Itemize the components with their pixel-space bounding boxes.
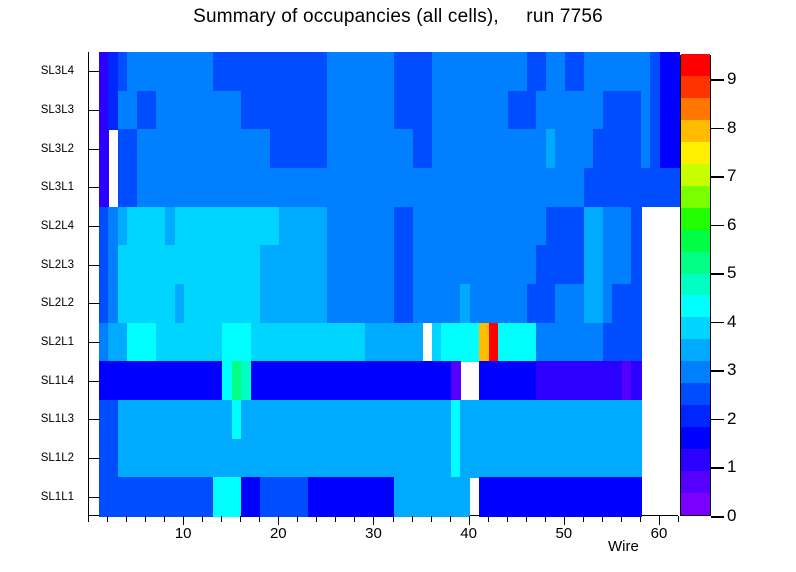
heatmap-cell — [413, 323, 423, 362]
colorbar-tick — [711, 370, 724, 372]
colorbar-tick — [711, 419, 724, 421]
colorbar-band — [681, 207, 710, 229]
colorbar-tick-label: 9 — [727, 69, 736, 89]
heatmap-cell — [631, 323, 641, 362]
colorbar-band — [681, 471, 710, 493]
x-axis-minor-tick — [450, 516, 451, 522]
y-axis-labels: SL3L4SL3L3SL3L2SL3L1SL2L4SL2L3SL2L2SL2L1… — [0, 52, 84, 516]
colorbar-band — [681, 163, 710, 185]
colorbar-tick-label: 8 — [727, 118, 736, 138]
colorbar-tick — [711, 176, 724, 178]
heatmap-cell — [669, 91, 679, 130]
x-axis-minor-tick — [678, 516, 679, 522]
colorbar-band — [681, 54, 710, 76]
colorbar-band — [681, 339, 710, 361]
x-axis-tick-label: 60 — [651, 525, 668, 542]
x-axis-tick-label: 30 — [365, 525, 382, 542]
colorbar-band — [681, 427, 710, 449]
heatmap-cell — [631, 245, 641, 284]
colorbar-band — [681, 405, 710, 427]
x-axis-minor-tick — [412, 516, 413, 522]
x-axis-minor-tick — [488, 516, 489, 522]
y-axis-tick-label: SL2L2 — [41, 297, 74, 309]
y-axis-tick — [88, 187, 100, 188]
x-axis-minor-tick — [221, 516, 222, 522]
y-axis-tick-label: SL1L4 — [41, 375, 74, 387]
y-axis-tick-label: SL3L2 — [41, 143, 74, 155]
x-axis-major-tick — [469, 516, 470, 525]
colorbar-band — [681, 141, 710, 163]
colorbar-tick — [711, 467, 724, 469]
heatmap-cell — [99, 129, 109, 168]
y-axis-tick-label: SL3L3 — [41, 104, 74, 116]
colorbar-tick — [711, 225, 724, 227]
y-axis-tick-label: SL2L4 — [41, 220, 74, 232]
x-axis-minor-tick — [164, 516, 165, 522]
heatmap-cell — [631, 361, 641, 400]
x-axis-minor-tick — [393, 516, 394, 522]
y-axis-tick-label: SL1L3 — [41, 413, 74, 425]
x-axis-minor-tick — [602, 516, 603, 522]
y-axis-tick-label: SL2L1 — [41, 336, 74, 348]
x-axis-minor-tick — [107, 516, 108, 522]
colorbar-band — [681, 295, 710, 317]
colorbar-band — [681, 119, 710, 141]
y-axis-tick — [88, 149, 100, 150]
x-axis-minor-tick — [526, 516, 527, 522]
heatmap-plot-area[interactable] — [88, 52, 678, 516]
colorbar-band — [681, 185, 710, 207]
y-axis-tick — [88, 458, 100, 459]
x-axis-minor-tick — [88, 516, 89, 522]
colorbar-band — [681, 449, 710, 471]
colorbar-tick-label: 4 — [727, 312, 736, 332]
heatmap-cell — [669, 52, 679, 91]
colorbar-tick-label: 0 — [727, 506, 736, 526]
y-axis-tick-label: SL3L1 — [41, 181, 74, 193]
heatmap-cell — [631, 477, 641, 516]
y-axis-tick-label: SL3L4 — [41, 65, 74, 77]
x-axis-minor-tick — [297, 516, 298, 522]
colorbar-tick-label: 6 — [727, 215, 736, 235]
colorbar-tick-label: 5 — [727, 263, 736, 283]
x-axis-minor-tick — [431, 516, 432, 522]
x-axis-minor-tick — [621, 516, 622, 522]
x-axis-minor-tick — [240, 516, 241, 522]
colorbar[interactable] — [680, 55, 711, 516]
heatmap-cell — [631, 207, 641, 246]
x-axis-major-tick — [564, 516, 565, 525]
x-axis-major-tick — [373, 516, 374, 525]
heatmap-cell — [631, 284, 641, 323]
colorbar-tick-label: 7 — [727, 166, 736, 186]
colorbar-band — [681, 273, 710, 295]
x-axis-minor-tick — [354, 516, 355, 522]
heatmap-cell — [669, 129, 679, 168]
x-axis-minor-tick — [259, 516, 260, 522]
x-axis-major-tick — [659, 516, 660, 525]
colorbar-tick — [711, 516, 724, 518]
colorbar-band — [681, 493, 710, 515]
y-axis-tick — [88, 303, 100, 304]
heatmap-cell — [669, 168, 679, 207]
colorbar-tick — [711, 128, 724, 130]
colorbar-tick-label: 1 — [727, 457, 736, 477]
y-axis-tick — [88, 419, 100, 420]
root-canvas: Summary of occupancies (all cells), run … — [0, 0, 796, 572]
y-axis-tick — [88, 342, 100, 343]
x-axis-minor-tick — [335, 516, 336, 522]
x-axis-major-tick — [183, 516, 184, 525]
colorbar-band — [681, 251, 710, 273]
heatmap-cell — [631, 400, 641, 439]
x-axis-title: Wire — [608, 538, 639, 555]
colorbar-tick-label: 3 — [727, 360, 736, 380]
x-axis-minor-tick — [545, 516, 546, 522]
x-axis-minor-tick — [202, 516, 203, 522]
y-axis-tick — [88, 226, 100, 227]
x-axis-tick-label: 20 — [270, 525, 287, 542]
y-axis-tick — [88, 71, 100, 72]
x-axis-minor-tick — [507, 516, 508, 522]
heatmap-cell — [451, 361, 461, 400]
colorbar-band — [681, 97, 710, 119]
heatmap-cell — [460, 477, 470, 516]
x-axis-tick-label: 40 — [460, 525, 477, 542]
x-axis-minor-tick — [145, 516, 146, 522]
x-axis: 102030405060 — [88, 516, 678, 556]
colorbar-tick — [711, 273, 724, 275]
page-title: Summary of occupancies (all cells), run … — [0, 6, 796, 28]
y-axis-tick — [88, 110, 100, 111]
x-axis-minor-tick — [640, 516, 641, 522]
heatmap-cell — [631, 439, 641, 478]
x-axis-tick-label: 50 — [555, 525, 572, 542]
y-axis-tick — [88, 381, 100, 382]
colorbar-band — [681, 383, 710, 405]
heatmap-cell — [99, 168, 109, 207]
y-axis-tick-label: SL2L3 — [41, 259, 74, 271]
heatmap-cells — [89, 52, 678, 515]
y-axis-tick-label: SL1L1 — [41, 491, 74, 503]
y-axis-tick — [88, 265, 100, 266]
x-axis-tick-label: 10 — [175, 525, 192, 542]
colorbar-band — [681, 361, 710, 383]
x-axis-minor-tick — [316, 516, 317, 522]
x-axis-minor-tick — [583, 516, 584, 522]
colorbar-band — [681, 229, 710, 251]
colorbar-tick — [711, 322, 724, 324]
x-axis-major-tick — [278, 516, 279, 525]
colorbar-tick-label: 2 — [727, 409, 736, 429]
colorbar-band — [681, 75, 710, 97]
x-axis-minor-tick — [126, 516, 127, 522]
colorbar-tick — [711, 79, 724, 81]
colorbar-band — [681, 317, 710, 339]
y-axis-tick-label: SL1L2 — [41, 452, 74, 464]
y-axis-tick — [88, 497, 100, 498]
